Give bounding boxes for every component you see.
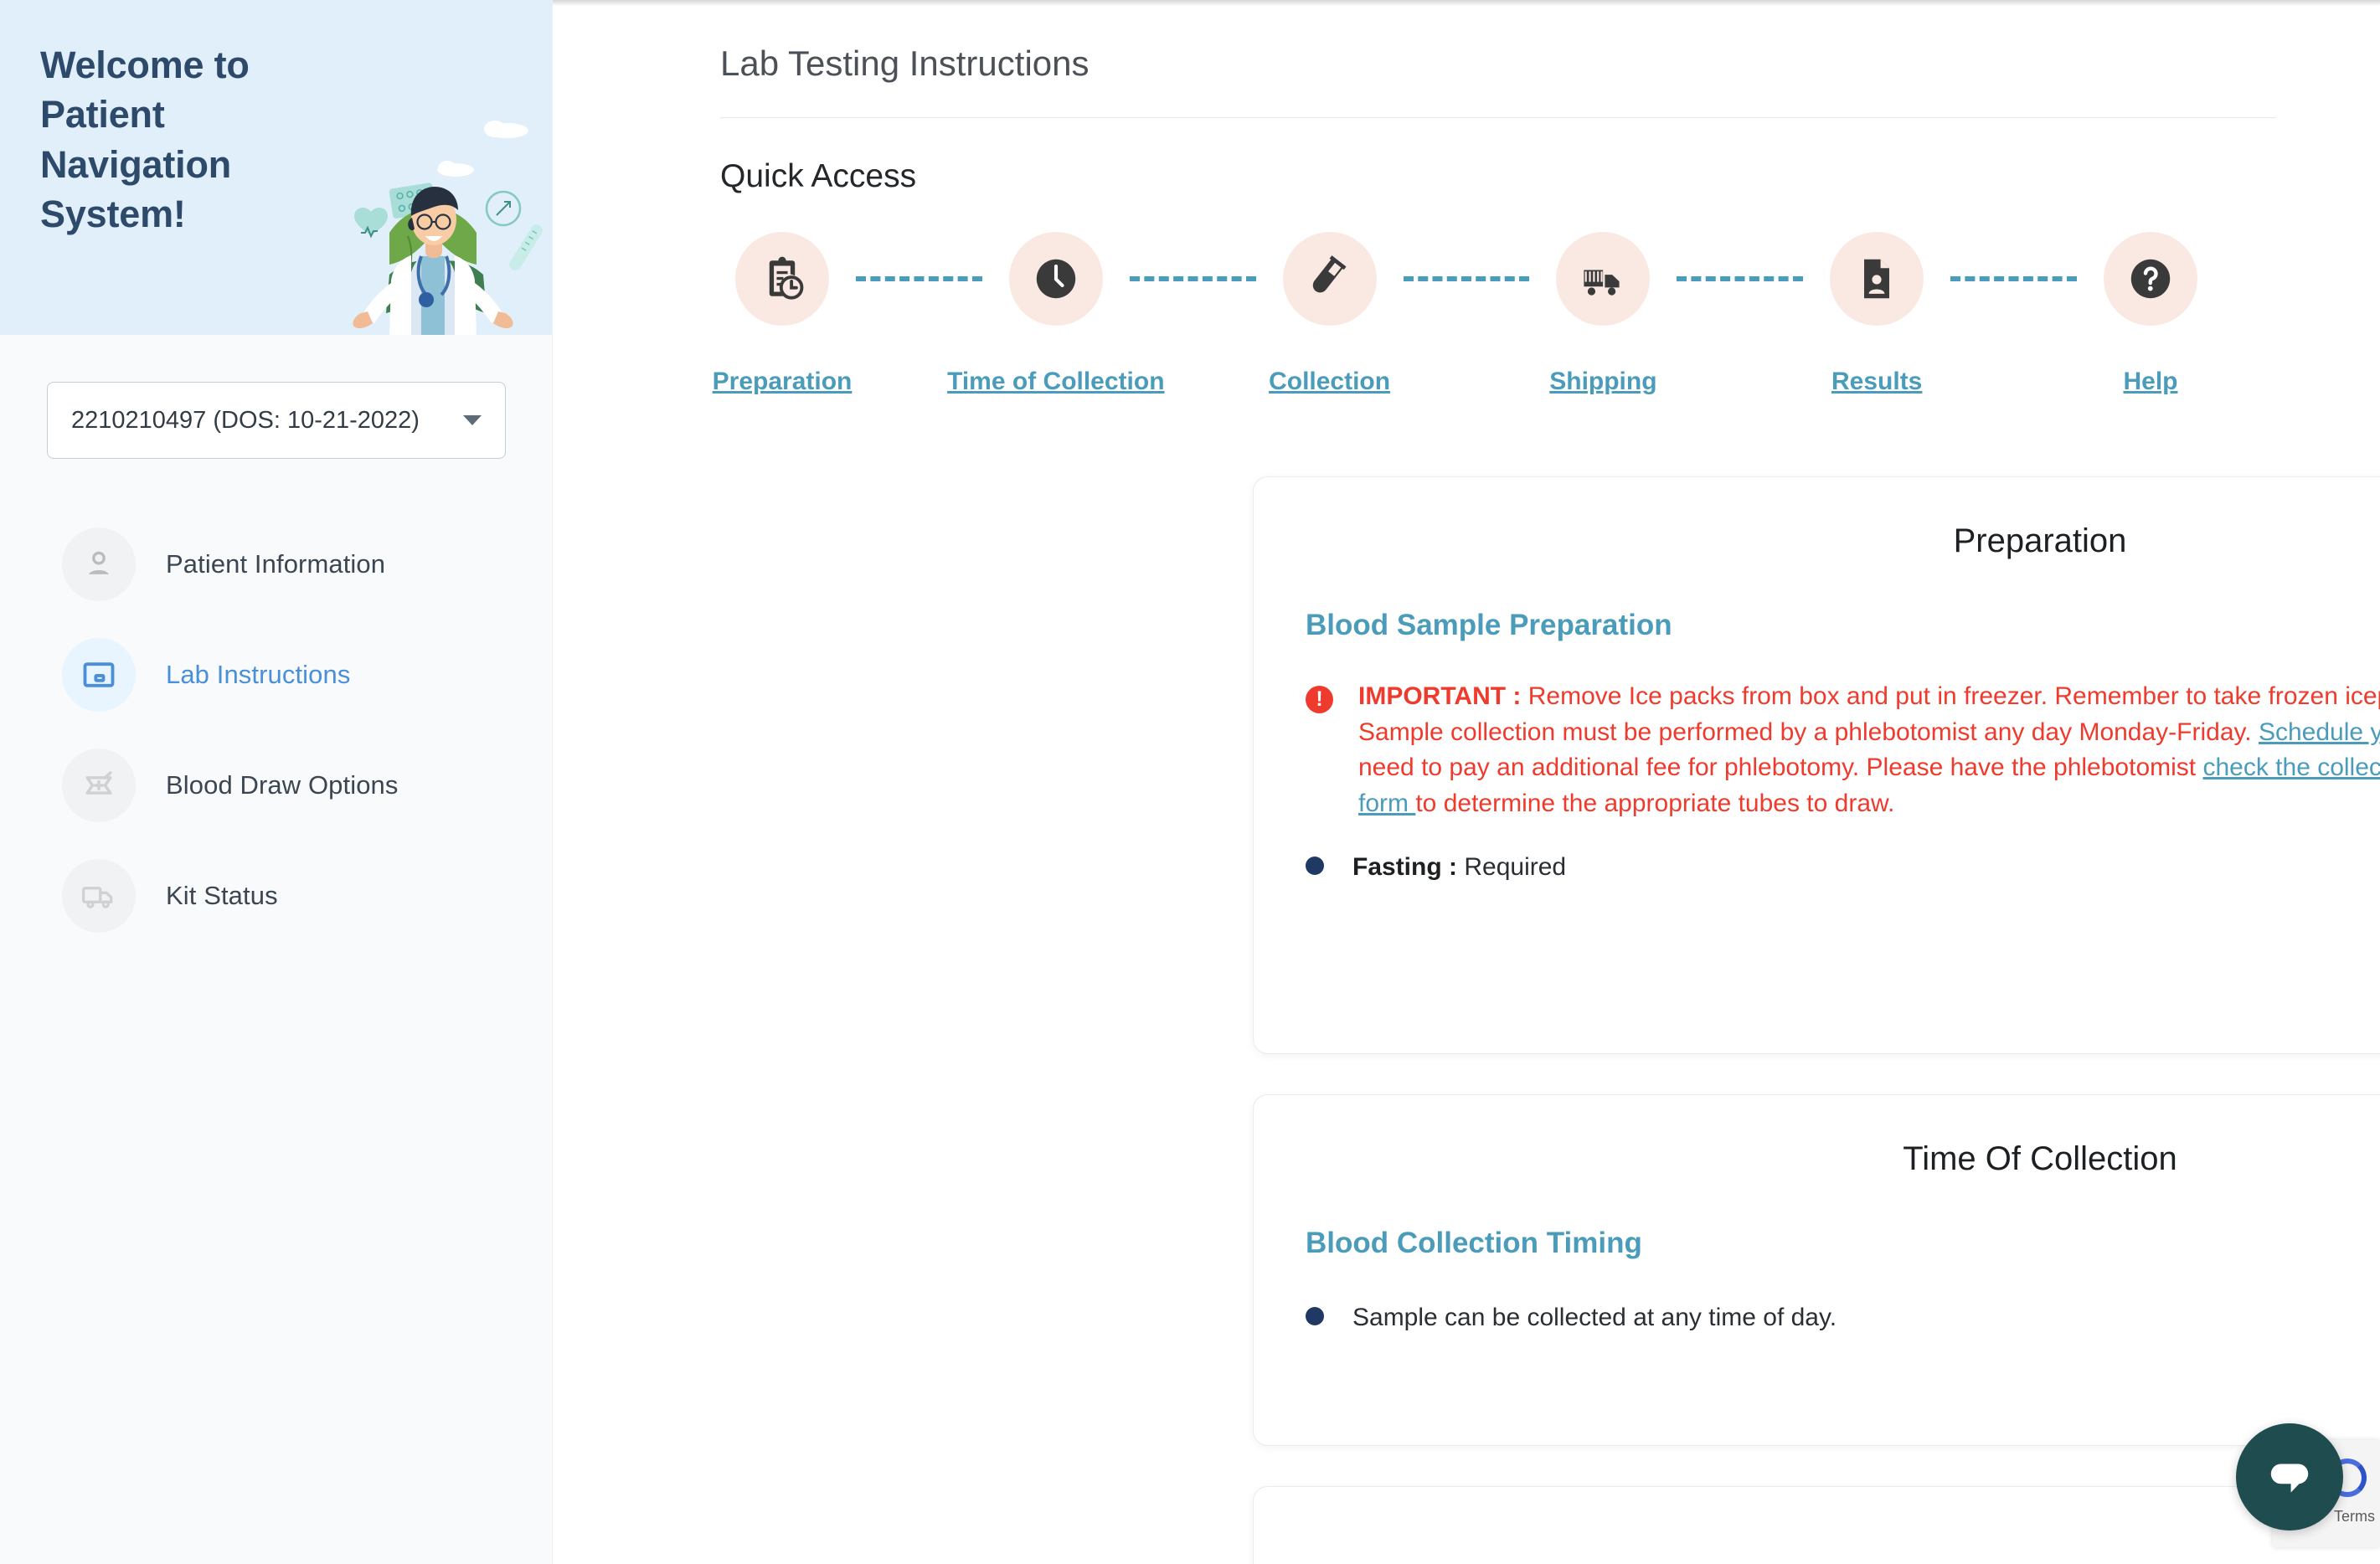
mortar-pestle-icon bbox=[62, 749, 136, 822]
card-subheading: Blood Collection Timing bbox=[1306, 1227, 2380, 1260]
sidebar-item-label: Lab Instructions bbox=[166, 660, 350, 690]
quick-access-step-collection[interactable]: Collection bbox=[1268, 232, 1392, 396]
welcome-panel: Welcome to Patient Navigation System! bbox=[0, 0, 552, 335]
exclamation-circle-icon: ! bbox=[1306, 686, 1333, 713]
stepper-connector bbox=[844, 232, 994, 326]
patient-select-wrap: 2210210497 (DOS: 10-21-2022) bbox=[0, 335, 552, 459]
card-next-partial bbox=[1253, 1486, 2380, 1564]
card-time-of-collection: Time Of Collection Blood Collection Timi… bbox=[1253, 1094, 2380, 1446]
person-icon bbox=[62, 527, 136, 601]
bullet-text: Fasting : Required bbox=[1352, 846, 1566, 885]
chat-launcher-button[interactable] bbox=[2236, 1423, 2343, 1531]
sidebar-item-kit-status[interactable]: Kit Status bbox=[0, 841, 552, 951]
chat-bubble-icon bbox=[2264, 1451, 2316, 1503]
truck-icon bbox=[62, 859, 136, 933]
stepper-connector bbox=[1939, 232, 2089, 326]
chevron-down-icon bbox=[463, 415, 482, 425]
sidebar-item-label: Blood Draw Options bbox=[166, 770, 399, 800]
test-tube-icon[interactable] bbox=[1283, 232, 1377, 326]
quick-access-step-time-of-collection[interactable]: Time of Collection bbox=[994, 232, 1118, 396]
sidebar-item-patient-information[interactable]: Patient Information bbox=[0, 509, 552, 620]
quick-access-step-results[interactable]: Results bbox=[1815, 232, 1939, 396]
question-mark-icon[interactable] bbox=[2104, 232, 2197, 326]
bullet-dot-icon bbox=[1306, 857, 1324, 875]
sidebar: Welcome to Patient Navigation System! bbox=[0, 0, 553, 1564]
quick-access-stepper: Preparation Time of Collection bbox=[553, 232, 2380, 396]
sidebar-item-blood-draw-options[interactable]: Blood Draw Options bbox=[0, 730, 552, 841]
stepper-connector bbox=[1665, 232, 1815, 326]
recaptcha-terms-label[interactable]: Terms bbox=[2334, 1508, 2375, 1525]
sidebar-item-lab-instructions[interactable]: Lab Instructions bbox=[0, 620, 552, 730]
truck-icon[interactable] bbox=[1556, 232, 1650, 326]
clipboard-clock-icon[interactable] bbox=[735, 232, 829, 326]
card-header: Time Of Collection bbox=[1254, 1095, 2380, 1178]
app-root: Welcome to Patient Navigation System! bbox=[0, 0, 2380, 1564]
sidebar-nav: Patient Information Lab Instructions bbox=[0, 509, 552, 951]
bullet-label: Fasting : bbox=[1352, 853, 1464, 881]
card-subheading: Blood Sample Preparation bbox=[1306, 609, 2380, 642]
doctor-illustration bbox=[309, 92, 552, 335]
page-title: Lab Testing Instructions bbox=[553, 0, 2380, 117]
card-header: Preparation bbox=[1254, 477, 2380, 560]
quick-access-label[interactable]: Help bbox=[2123, 368, 2177, 396]
stepper-connector bbox=[1392, 232, 1542, 326]
document-person-icon[interactable] bbox=[1830, 232, 1924, 326]
list-item: Fasting : Required bbox=[1306, 846, 2380, 885]
quick-access-label[interactable]: Collection bbox=[1269, 368, 1390, 396]
main-content: Lab Testing Instructions Quick Access Pr… bbox=[553, 0, 2380, 1564]
quick-access-step-help[interactable]: Help bbox=[2089, 232, 2213, 396]
card-preparation: Preparation Blood Sample Preparation ! I… bbox=[1253, 476, 2380, 1054]
quick-access-step-shipping[interactable]: Shipping bbox=[1541, 232, 1665, 396]
bullet-text: Sample can be collected at any time of d… bbox=[1352, 1297, 1837, 1335]
card-body: Blood Collection Timing Sample can be co… bbox=[1254, 1178, 2380, 1399]
bullet-value: Sample can be collected at any time of d… bbox=[1352, 1304, 1837, 1331]
schedule-phlebotomy-link[interactable]: Schedule your phlebotomy HERE. bbox=[2259, 718, 2380, 746]
card-title: Preparation bbox=[1954, 522, 2127, 559]
lab-window-icon bbox=[62, 638, 136, 712]
welcome-title: Welcome to Patient Navigation System! bbox=[40, 40, 317, 239]
quick-access-title: Quick Access bbox=[553, 118, 2380, 195]
quick-access-label[interactable]: Results bbox=[1831, 368, 1922, 396]
bullet-value: Required bbox=[1464, 853, 1566, 881]
bullet-dot-icon bbox=[1306, 1307, 1324, 1325]
quick-access-label[interactable]: Preparation bbox=[713, 368, 853, 396]
quick-access-step-preparation[interactable]: Preparation bbox=[720, 232, 844, 396]
sidebar-item-label: Patient Information bbox=[166, 549, 385, 579]
patient-select[interactable]: 2210210497 (DOS: 10-21-2022) bbox=[47, 382, 506, 459]
alert-paragraph-3: to determine the appropriate tubes to dr… bbox=[1415, 790, 1894, 817]
stepper-connector bbox=[1118, 232, 1268, 326]
alert-label: IMPORTANT : bbox=[1358, 682, 1521, 710]
alert-text: IMPORTANT : Remove Ice packs from box an… bbox=[1358, 679, 2380, 821]
alert-row: ! IMPORTANT : Remove Ice packs from box … bbox=[1306, 679, 2380, 821]
patient-select-value: 2210210497 (DOS: 10-21-2022) bbox=[71, 407, 420, 435]
clock-icon[interactable] bbox=[1009, 232, 1103, 326]
quick-access-label[interactable]: Shipping bbox=[1549, 368, 1656, 396]
instruction-cards: Preparation Blood Sample Preparation ! I… bbox=[553, 476, 2380, 1564]
sidebar-item-label: Kit Status bbox=[166, 881, 278, 911]
card-title: Time Of Collection bbox=[1903, 1140, 2177, 1177]
card-body: Blood Sample Preparation ! IMPORTANT : R… bbox=[1254, 560, 2380, 949]
list-item: Sample can be collected at any time of d… bbox=[1306, 1297, 2380, 1335]
quick-access-label[interactable]: Time of Collection bbox=[947, 368, 1164, 396]
